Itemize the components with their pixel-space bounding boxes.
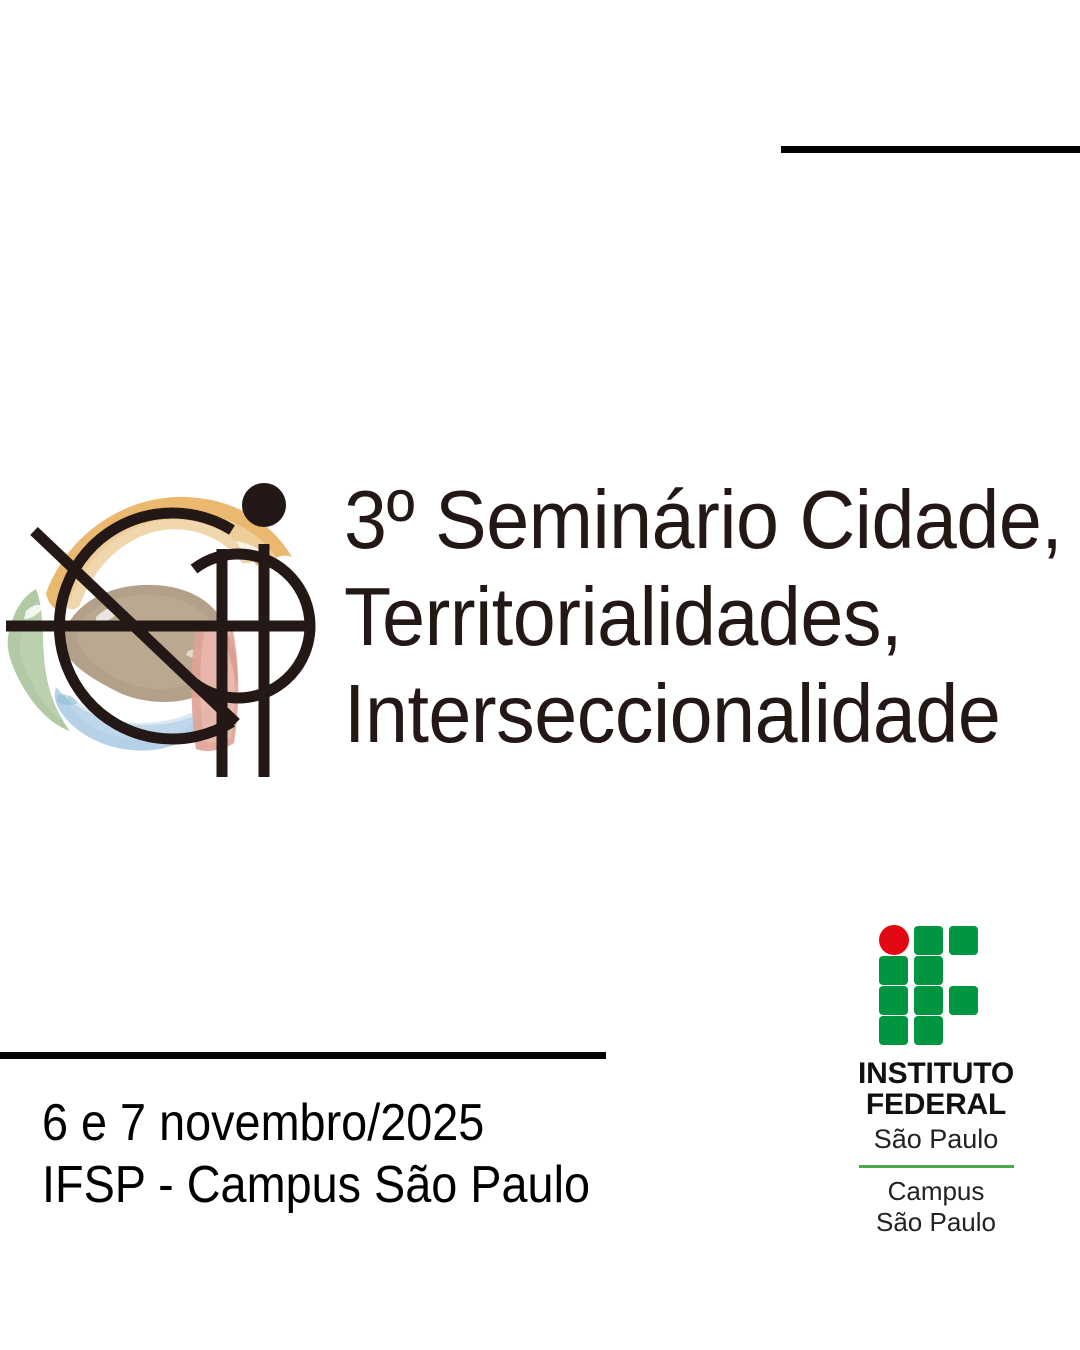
ifsp-logo: INSTITUTO FEDERAL São Paulo Campus São P…: [838, 925, 1034, 1238]
ifsp-campus-block: Campus São Paulo: [838, 1176, 1034, 1238]
ifsp-green-divider: [859, 1165, 1014, 1168]
title-line-1: 3º Seminário Cidade,: [344, 471, 1062, 568]
ifsp-red-dot: [879, 925, 909, 955]
ifsp-state-name: São Paulo: [838, 1122, 1034, 1156]
ifsp-institute-line-2: FEDERAL: [838, 1089, 1034, 1120]
ifsp-institute-name: INSTITUTO FEDERAL: [838, 1058, 1034, 1120]
title-line-2: Territorialidades,: [344, 568, 1062, 665]
ifsp-campus-name: São Paulo: [838, 1207, 1034, 1238]
i-dot: [242, 483, 286, 527]
ifsp-campus-label: Campus: [838, 1176, 1034, 1207]
cti-lineart: [6, 513, 313, 777]
event-date: 6 e 7 novembro/2025: [42, 1092, 600, 1154]
ifsp-pixel-grid-icon: [878, 925, 994, 1046]
event-poster: 3º Seminário Cidade, Territorialidades, …: [0, 0, 1080, 1350]
event-title: 3º Seminário Cidade, Territorialidades, …: [344, 465, 1080, 762]
masthead: 3º Seminário Cidade, Territorialidades, …: [0, 465, 1080, 785]
event-venue: IFSP - Campus São Paulo: [42, 1154, 600, 1216]
ifsp-institute-line-1: INSTITUTO: [838, 1058, 1034, 1089]
top-decorative-rule: [781, 146, 1080, 153]
event-info: 6 e 7 novembro/2025 IFSP - Campus São Pa…: [42, 1092, 662, 1216]
cti-monogram-logo: [0, 465, 340, 785]
bottom-decorative-rule: [0, 1052, 606, 1059]
title-line-3: Interseccionalidade: [344, 665, 1062, 762]
